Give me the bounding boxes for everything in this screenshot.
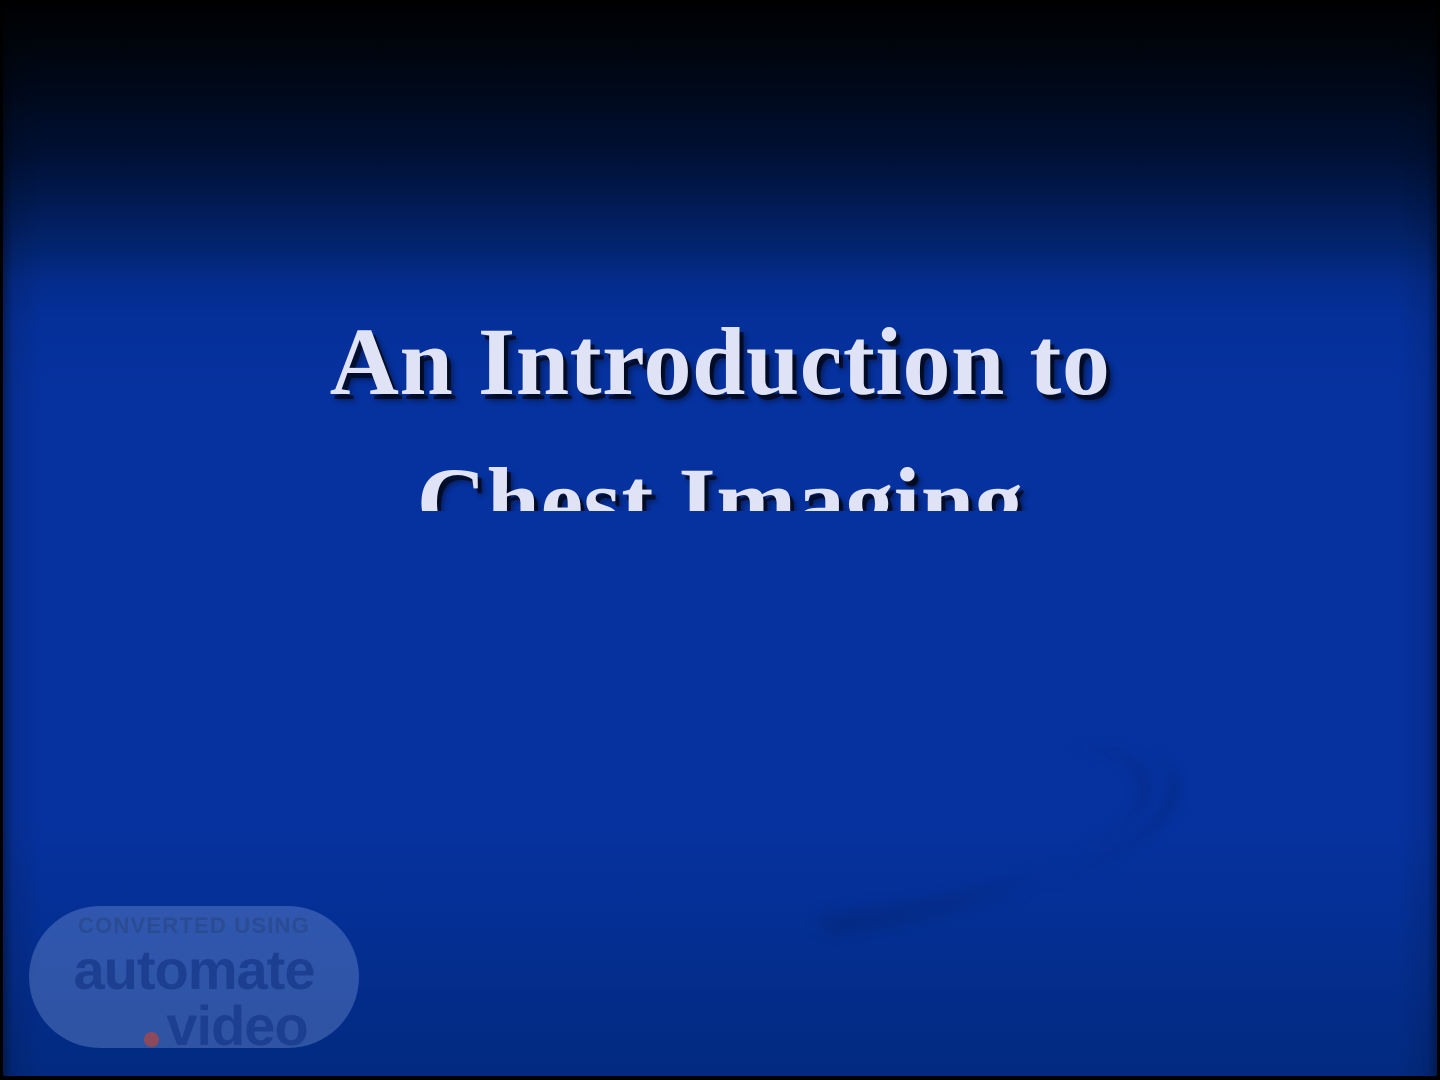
slide-title: An Introduction to Chest Imaging — [3, 289, 1437, 511]
watermark-eyebrow-label: CONVERTED USING — [78, 912, 310, 940]
title-line-1: An Introduction to — [3, 289, 1437, 435]
watermark-dot-icon — [144, 1032, 159, 1047]
watermark-tld-row: video — [144, 998, 307, 1054]
swoosh-decoration — [783, 663, 1437, 1076]
watermark-badge: CONVERTED USING automate video — [29, 906, 359, 1048]
slide-stage: An Introduction to Chest Imaging CONVERT… — [0, 0, 1440, 1080]
title-line-2: Chest Imaging — [3, 429, 1437, 511]
slide-canvas: An Introduction to Chest Imaging CONVERT… — [3, 3, 1437, 1076]
watermark-wordmark: automate — [74, 942, 315, 998]
watermark-tld-label: video — [166, 998, 307, 1054]
